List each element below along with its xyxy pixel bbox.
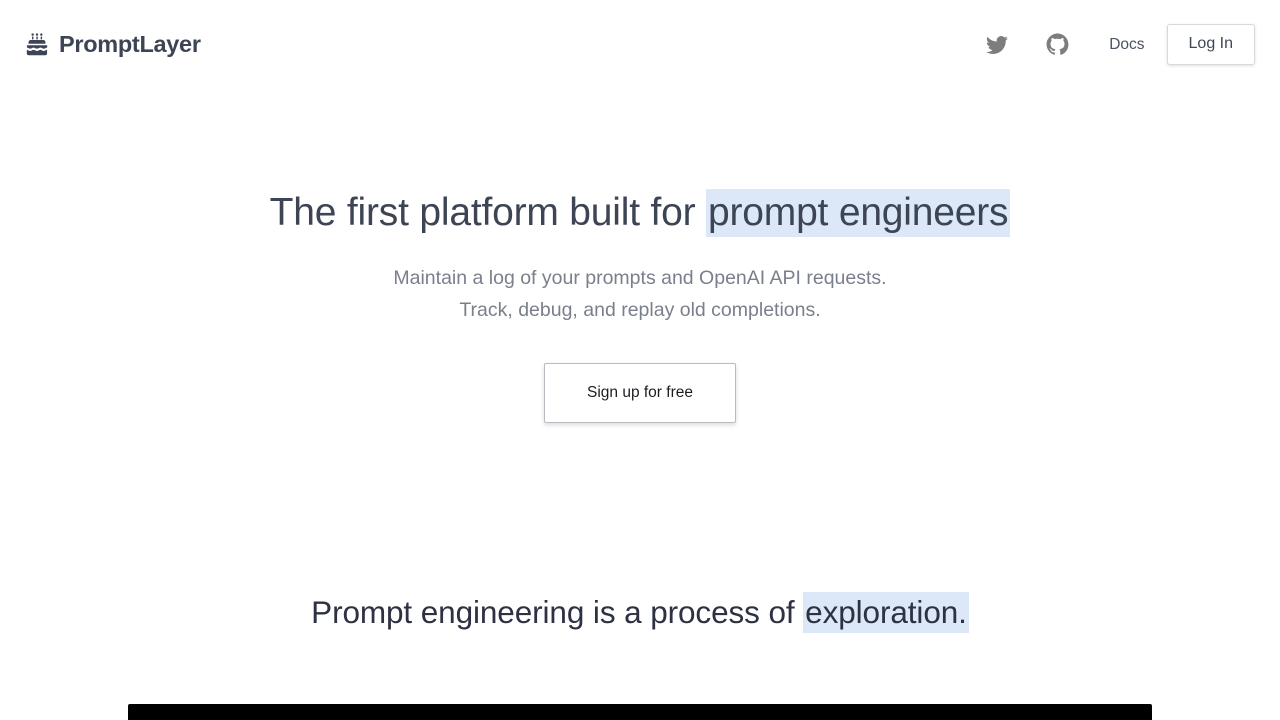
header-nav: Docs Log In [967, 23, 1255, 67]
exploration-section: Prompt engineering is a process of explo… [0, 594, 1280, 632]
github-icon [1046, 33, 1069, 56]
brand-logo-link[interactable]: PromptLayer [24, 32, 201, 58]
exploration-title: Prompt engineering is a process of explo… [0, 594, 1280, 632]
site-header: PromptLayer Docs Log In [0, 0, 1280, 89]
signup-button[interactable]: Sign up for free [544, 363, 736, 423]
github-link[interactable] [1027, 23, 1087, 67]
hero-subtitle: Maintain a log of your prompts and OpenA… [0, 263, 1280, 327]
exploration-title-highlight: exploration. [803, 592, 969, 633]
hero-section: The first platform built for prompt engi… [0, 190, 1280, 423]
hero-title-prefix: The first platform built for [270, 191, 706, 234]
exploration-title-prefix: Prompt engineering is a process of [311, 594, 803, 630]
hero-subtitle-line-1: Maintain a log of your prompts and OpenA… [0, 263, 1280, 295]
landing-page: PromptLayer Docs Log In [0, 0, 1280, 720]
cake-icon [24, 32, 50, 58]
hero-title: The first platform built for prompt engi… [0, 190, 1280, 236]
brand-name: PromptLayer [59, 33, 201, 57]
hero-title-highlight: prompt engineers [706, 189, 1010, 237]
cta-container: Sign up for free [0, 363, 1280, 423]
demo-video-panel[interactable] [128, 704, 1152, 720]
twitter-icon [986, 34, 1008, 56]
login-button[interactable]: Log In [1167, 24, 1255, 65]
hero-subtitle-line-2: Track, debug, and replay old completions… [0, 295, 1280, 327]
twitter-link[interactable] [967, 23, 1027, 67]
docs-link[interactable]: Docs [1087, 37, 1166, 53]
